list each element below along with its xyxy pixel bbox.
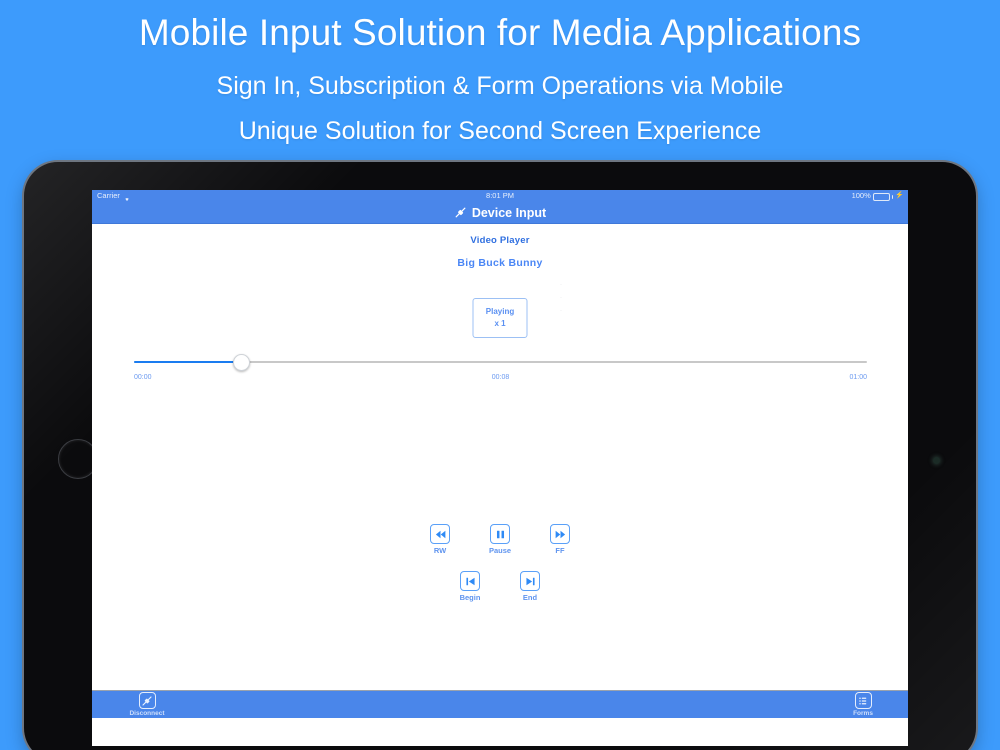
- end-button[interactable]: End: [511, 571, 549, 602]
- playback-state-label: Playing: [486, 306, 514, 318]
- rewind-icon: [430, 524, 450, 544]
- battery-cap-icon: [892, 195, 894, 199]
- status-bar-clock: 8:01 PM: [92, 190, 908, 202]
- battery-percent-label: 100%: [852, 190, 871, 202]
- plug-connector-icon: [139, 692, 156, 709]
- promo-subtitle-1: Sign In, Subscription & Form Operations …: [0, 51, 1000, 99]
- navigation-bar-title: Device Input: [472, 206, 546, 220]
- disconnect-label: Disconnect: [129, 710, 164, 717]
- skip-to-begin-icon: [460, 571, 480, 591]
- begin-label: Begin: [460, 593, 481, 602]
- time-current-label: 00:08: [134, 374, 867, 381]
- device-screen: Carrier 8:01 PM 100% ⚡: [92, 190, 908, 746]
- transport-controls: RW Pause: [92, 524, 908, 602]
- page-root: Mobile Input Solution for Media Applicat…: [0, 0, 1000, 750]
- scrubber-thumb[interactable]: [233, 354, 250, 371]
- promo-subtitle-2: Unique Solution for Second Screen Experi…: [0, 99, 1000, 144]
- promo-header: Mobile Input Solution for Media Applicat…: [0, 0, 1000, 160]
- forms-button[interactable]: Forms: [840, 692, 886, 717]
- tablet-device-frame: Carrier 8:01 PM 100% ⚡: [24, 162, 976, 750]
- disconnect-button[interactable]: Disconnect: [124, 692, 170, 717]
- status-bar: Carrier 8:01 PM 100% ⚡: [92, 190, 908, 202]
- playback-state-box: Playing x 1: [473, 298, 528, 338]
- status-bar-right: 100% ⚡: [852, 190, 904, 202]
- front-camera-icon: [933, 457, 940, 464]
- navigation-bar: Device Input: [92, 202, 908, 224]
- rewind-button[interactable]: RW: [421, 524, 459, 555]
- faint-marks: ···: [560, 279, 594, 321]
- forms-list-icon: [855, 692, 872, 709]
- battery-full-icon: [873, 193, 890, 201]
- time-end-label: 01:00: [849, 374, 867, 381]
- pause-button[interactable]: Pause: [481, 524, 519, 555]
- transport-row-primary: RW Pause: [92, 524, 908, 555]
- transport-row-secondary: Begin End: [92, 571, 908, 602]
- plug-connector-icon: [454, 206, 467, 219]
- pause-icon: [490, 524, 510, 544]
- bolt-icon: ⚡: [895, 190, 904, 202]
- forms-label: Forms: [853, 710, 873, 717]
- pause-label: Pause: [489, 546, 511, 555]
- playback-rate-label: x 1: [494, 318, 505, 330]
- begin-button[interactable]: Begin: [451, 571, 489, 602]
- fast-forward-button[interactable]: FF: [541, 524, 579, 555]
- promo-title: Mobile Input Solution for Media Applicat…: [0, 0, 1000, 51]
- rewind-label: RW: [434, 546, 446, 555]
- video-player-heading: Video Player: [92, 224, 908, 246]
- media-title: Big Buck Bunny: [92, 246, 908, 269]
- screen-content: Video Player Big Buck Bunny ··· Playing …: [92, 224, 908, 718]
- playback-scrubber[interactable]: 00:00 00:08 01:00: [134, 352, 867, 386]
- fast-forward-label: FF: [555, 546, 564, 555]
- scrubber-time-row: 00:00 00:08 01:00: [134, 374, 867, 386]
- end-label: End: [523, 593, 537, 602]
- fast-forward-icon: [550, 524, 570, 544]
- bottom-toolbar: Disconnect Forms: [92, 690, 908, 718]
- skip-to-end-icon: [520, 571, 540, 591]
- scrubber-progress: [134, 361, 241, 363]
